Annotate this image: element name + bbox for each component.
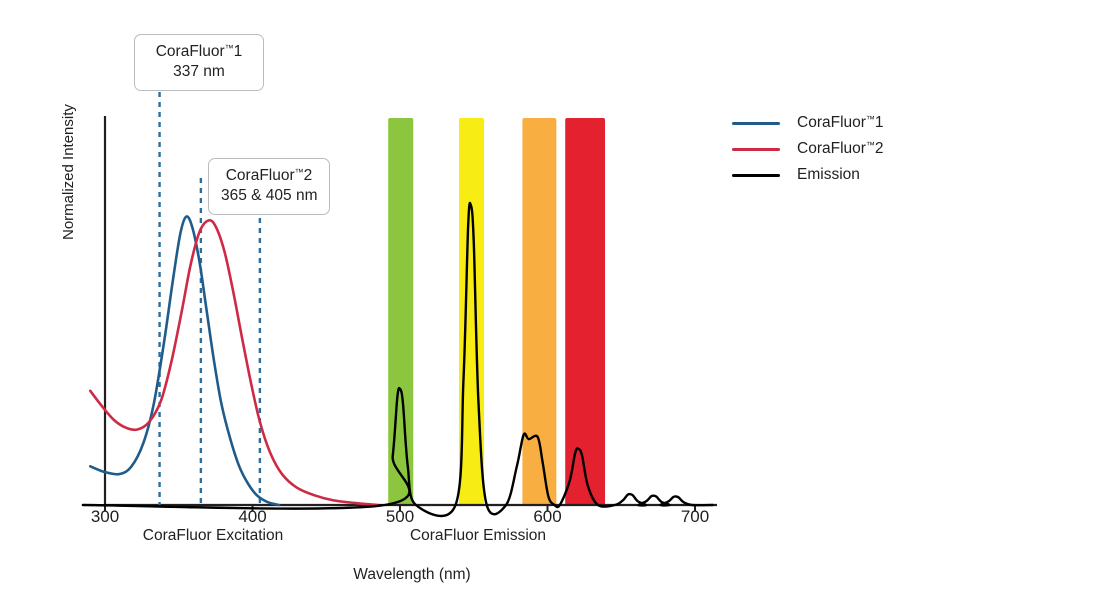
trademark-icon: ™ (866, 140, 875, 150)
y-axis-label: Normalized Intensity (60, 104, 77, 240)
x-tick-700: 700 (681, 507, 709, 527)
figure-root: CoraFluor™1 337 nm CoraFluor™2 365 & 405… (0, 0, 1110, 612)
x-tick-600: 600 (533, 507, 561, 527)
legend-item-label: Emission (797, 166, 860, 184)
legend-panel: CoraFluor™1CoraFluor™2Emission Compatibl… (730, 0, 1110, 612)
x-tick-500: 500 (386, 507, 414, 527)
x-tick-400: 400 (238, 507, 266, 527)
emission-band-0 (388, 118, 413, 505)
legend-item-label: CoraFluor™1 (797, 114, 884, 132)
trademark-icon: ™ (295, 167, 304, 177)
curve-corafluor1 (90, 216, 279, 505)
legend-item-1[interactable]: CoraFluor™2 (732, 140, 884, 158)
x-tick-300: 300 (91, 507, 119, 527)
emission-band-3 (565, 118, 605, 505)
callout-corafluor2: CoraFluor™2 365 & 405 nm (208, 158, 330, 215)
callout2-line2: 365 & 405 nm (221, 186, 317, 206)
legend-swatch-line (732, 148, 780, 151)
sub-axis-emission: CoraFluor Emission (410, 527, 546, 545)
legend-item-2[interactable]: Emission (732, 166, 860, 184)
legend-swatch-line (732, 174, 780, 177)
callout1-line1: CoraFluor™1 (147, 42, 251, 62)
legend-item-label: CoraFluor™2 (797, 140, 884, 158)
x-axis-label: Wavelength (nm) (353, 566, 470, 584)
legend-item-0[interactable]: CoraFluor™1 (732, 114, 884, 132)
trademark-icon: ™ (866, 114, 875, 124)
trademark-icon: ™ (225, 43, 234, 53)
legend-swatch-line (732, 122, 780, 125)
callout2-line1: CoraFluor™2 (221, 166, 317, 186)
callout-corafluor1: CoraFluor™1 337 nm (134, 34, 264, 91)
callout1-line2: 337 nm (147, 62, 251, 82)
sub-axis-excitation: CoraFluor Excitation (143, 527, 283, 545)
